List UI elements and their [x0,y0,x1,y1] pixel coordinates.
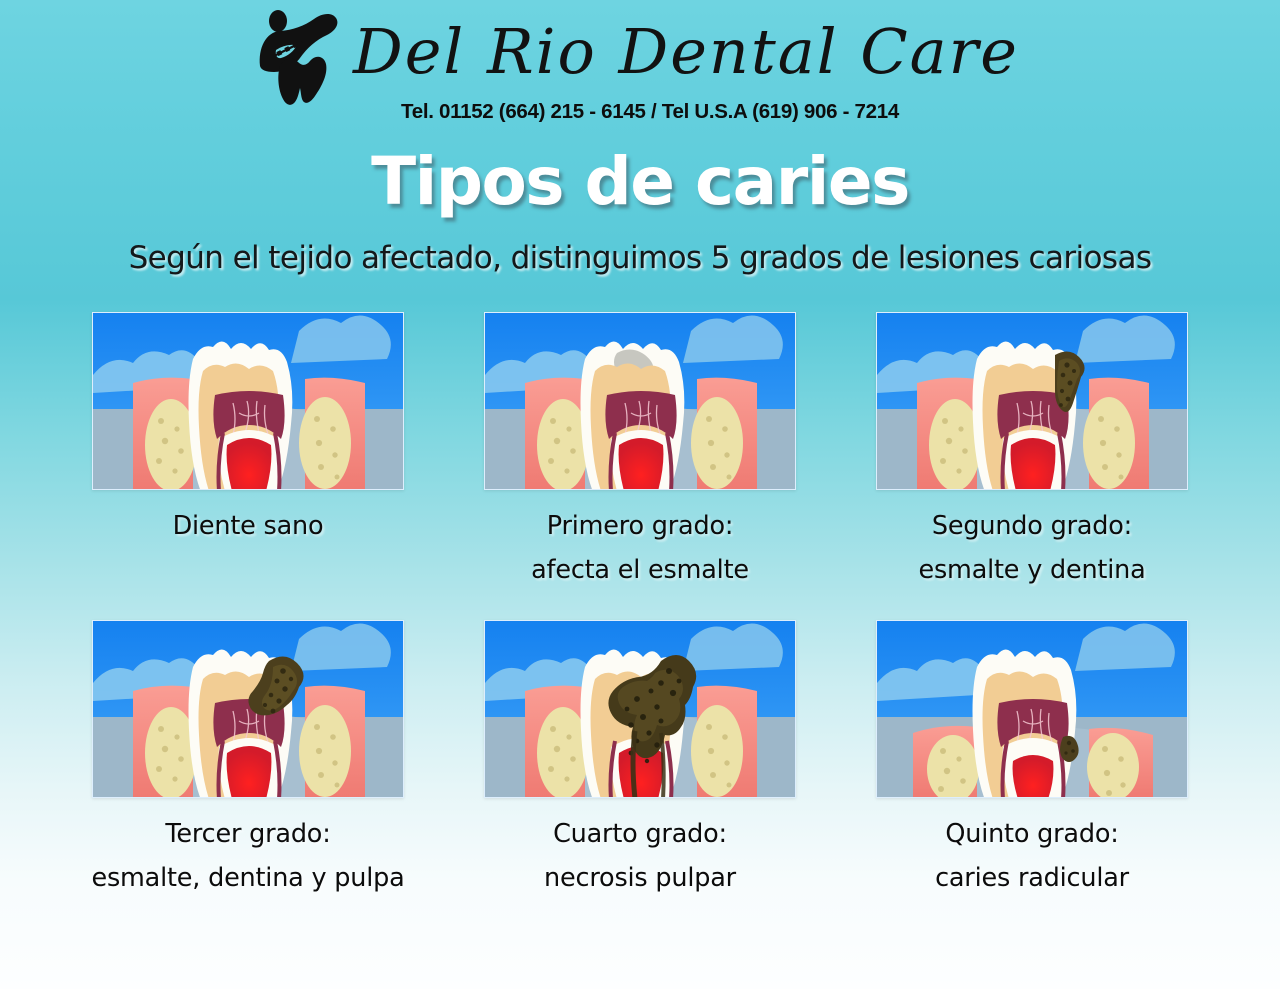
caption-grade-4: Cuarto grado: necrosis pulpar [544,812,736,900]
brand-phone-numbers: Tel. 01152 (664) 215 - 6145 / Tel U.S.A … [300,100,1000,124]
caries-case-grade-1: Primero grado: afecta el esmalte [484,312,796,592]
caption-grade-3: Tercer grado: esmalte, dentina y pulpa [91,812,404,900]
caries-case-grade-3: Tercer grado: esmalte, dentina y pulpa [92,620,404,900]
tooth-illustration-grade-2 [876,312,1188,490]
caries-grid-row-top: Diente sano [0,312,1280,592]
caries-case-grade-4: Cuarto grado: necrosis pulpar [484,620,796,900]
tooth-illustration-grade-5 [876,620,1188,798]
tooth-illustration-grade-3 [92,620,404,798]
tooth-illustration-healthy [92,312,404,490]
heading-block: Tipos de caries Según el tejido afectado… [0,138,1280,300]
tooth-illustration-grade-1 [484,312,796,490]
caries-grid-row-bottom: Tercer grado: esmalte, dentina y pulpa [0,620,1280,900]
caption-grade-1: Primero grado: afecta el esmalte [531,504,749,592]
brand-name: Del Rio Dental Care [336,12,1036,92]
caption-grade-2: Segundo grado: esmalte y dentina [918,504,1145,592]
tooth-illustration-grade-4 [484,620,796,798]
page-subtitle: Según el tejido afectado, distinguimos 5… [0,238,1280,278]
caries-case-healthy: Diente sano [92,312,404,548]
caption-grade-5: Quinto grado: caries radicular [935,812,1129,900]
page-title: Tipos de caries [0,142,1280,222]
brand-header: Del Rio Dental Care Tel. 01152 (664) 215… [0,0,1280,138]
caries-grid: Diente sano [0,312,1280,900]
caption-healthy: Diente sano [173,504,324,548]
caries-case-grade-5: Quinto grado: caries radicular [876,620,1188,900]
caries-case-grade-2: Segundo grado: esmalte y dentina [876,312,1188,592]
